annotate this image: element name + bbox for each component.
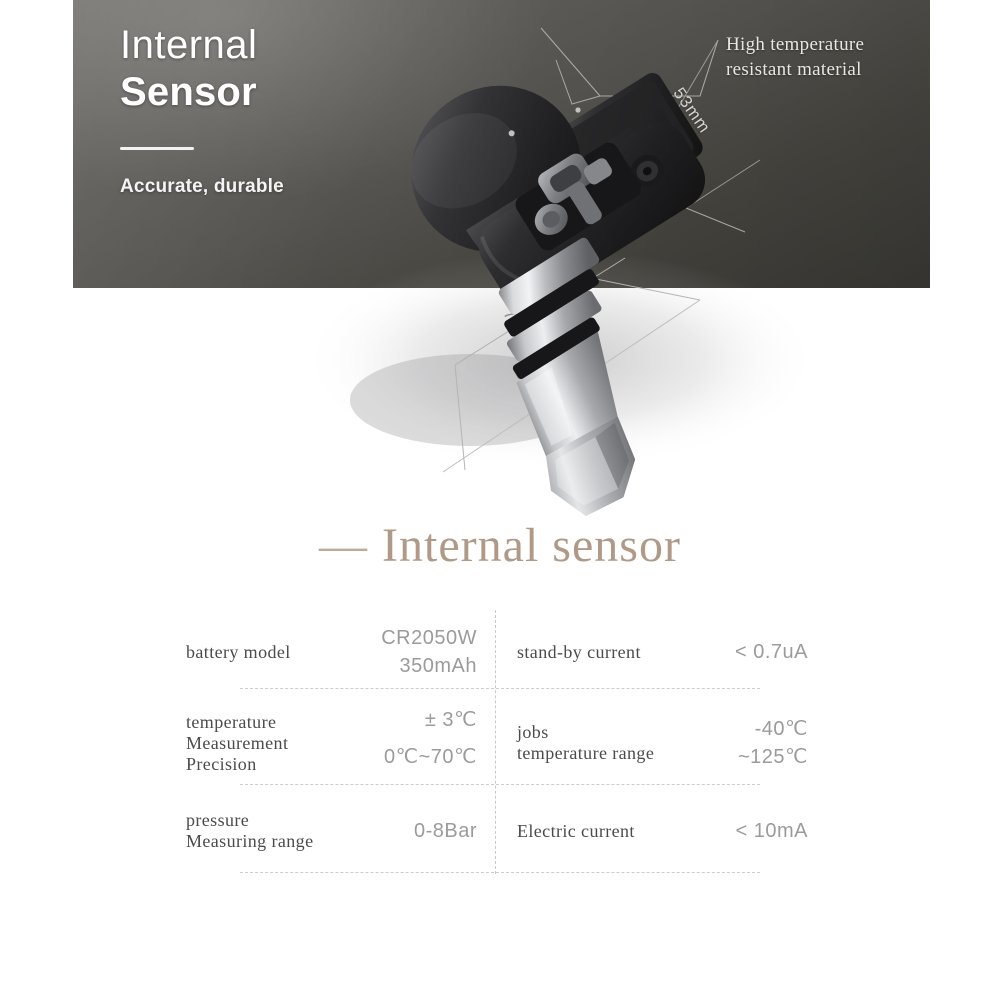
dimension-label-height: 53mm [669,84,715,137]
spec-value-line: 0℃~70℃ [384,734,477,780]
spec-value-line: 350mAh [381,652,477,680]
table-row: temperature Measurement Precision ± 3℃ 0… [180,696,820,790]
spec-label-line: Electric current [517,821,635,842]
hero-title: Internal Sensor [120,22,257,116]
sensor-hex-nut [534,413,656,520]
hero-subtitle: Accurate, durable [120,176,284,198]
spec-label-line: pressure [186,810,313,831]
spec-value: < 10mA [736,817,808,845]
section-title-dash: — [319,519,368,572]
spec-value-line: < 0.7uA [735,638,808,666]
dimension-leader-line-length [443,258,700,472]
dimension-label-length: 76mm [498,305,543,359]
hero-banner: Internal Sensor Accurate, durable High t… [73,0,930,288]
table-row: pressure Measuring range 0-8Bar Electric… [180,790,820,872]
spec-label-line: temperature range [517,743,654,764]
spec-value: ± 3℃ 0℃~70℃ [384,706,477,780]
spec-label-line: temperature [186,712,288,733]
spec-label-line: Measurement [186,733,288,754]
spec-cell-jobs-temperature-range: jobs temperature range -40℃ ~125℃ [495,696,810,790]
hero-title-line2: Sensor [120,69,257,116]
spec-value-line: CR2050W [381,624,477,652]
spec-label: pressure Measuring range [186,810,313,852]
spec-cell-electric-current: Electric current < 10mA [495,790,810,872]
spec-value: < 0.7uA [735,638,808,666]
spec-label: temperature Measurement Precision [186,712,288,775]
spec-table: battery model CR2050W 350mAh stand-by cu… [180,608,820,876]
spec-label: jobs temperature range [517,722,654,764]
spec-cell-pressure-range: pressure Measuring range 0-8Bar [180,790,495,872]
spec-label: stand-by current [517,642,641,663]
callout-line1: High temperature [726,32,864,57]
spec-value-line: ~125℃ [738,743,808,771]
spec-value: -40℃ ~125℃ [738,715,808,771]
spec-value-line: ± 3℃ [384,706,477,734]
hero-title-line1: Internal [120,23,257,67]
spec-cell-standby-current: stand-by current < 0.7uA [495,608,810,696]
product-infographic-page: Internal Sensor Accurate, durable High t… [0,0,1000,1000]
spec-value-line: < 10mA [736,817,808,845]
spec-label-line: stand-by current [517,642,641,663]
callout-high-temperature-material: High temperature resistant material [726,32,864,82]
spec-value-line: -40℃ [738,715,808,743]
callout-line2: resistant material [726,57,864,82]
spec-cell-battery-model: battery model CR2050W 350mAh [180,608,495,696]
hero-divider-rule [120,147,194,150]
table-row: battery model CR2050W 350mAh stand-by cu… [180,608,820,696]
spec-label: battery model [186,642,291,663]
spec-label: Electric current [517,821,635,842]
spec-label-line: Measuring range [186,831,313,852]
spec-label-line: battery model [186,642,291,663]
section-title: —Internal sensor [0,518,1000,573]
spec-cell-temperature-precision: temperature Measurement Precision ± 3℃ 0… [180,696,495,790]
spec-label-line: Precision [186,754,288,775]
spec-label-line: jobs [517,722,654,743]
spec-row-separator-3 [240,872,760,873]
section-title-text: Internal sensor [382,519,681,572]
spec-value: 0-8Bar [414,817,477,845]
spec-value-line: 0-8Bar [414,817,477,845]
spec-value: CR2050W 350mAh [381,624,477,680]
